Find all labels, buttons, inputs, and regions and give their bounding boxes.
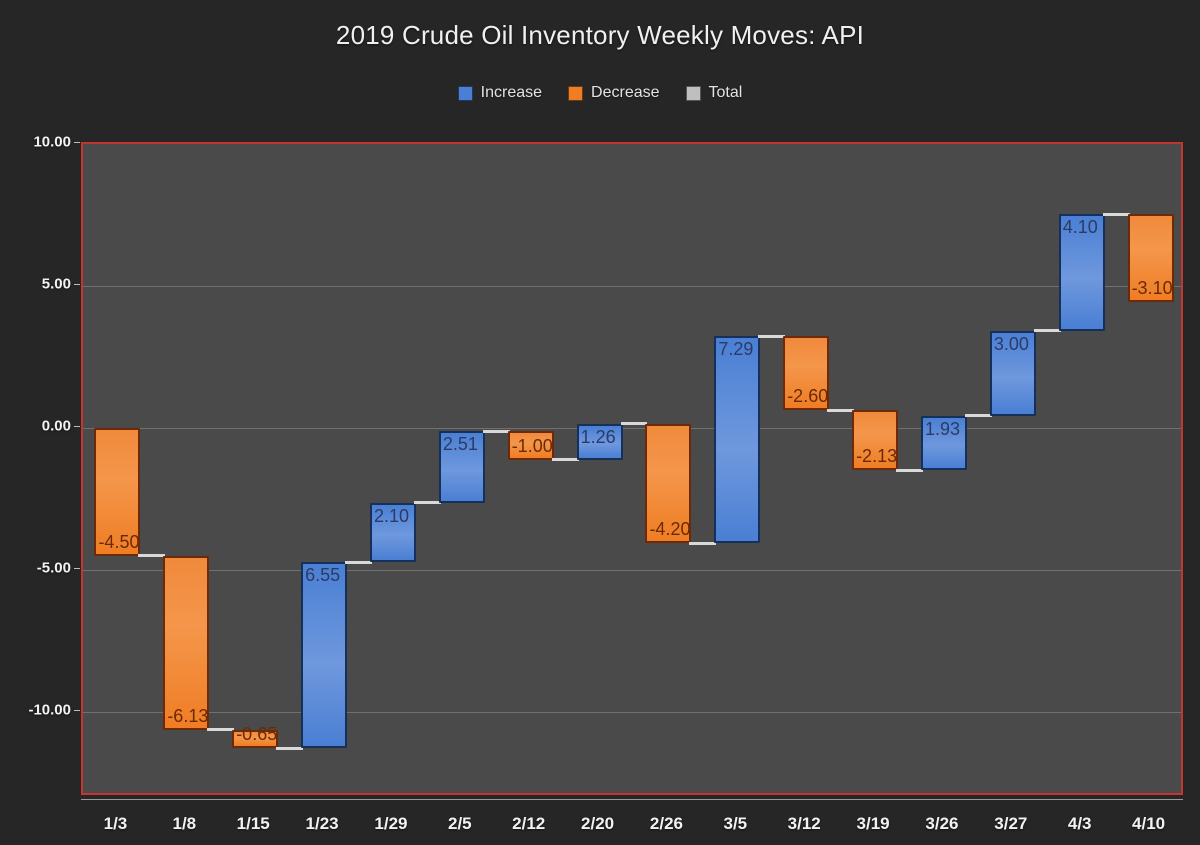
x-axis-tick-label: 1/29 xyxy=(357,814,426,834)
x-axis-line xyxy=(81,799,1183,800)
waterfall-connector xyxy=(483,430,510,433)
waterfall-connector xyxy=(1103,213,1130,216)
bar-value-label: -4.50 xyxy=(98,532,139,553)
chart-title: 2019 Crude Oil Inventory Weekly Moves: A… xyxy=(0,20,1200,51)
bar-value-label: 1.26 xyxy=(581,427,616,448)
gridline xyxy=(83,428,1181,429)
bar-2-12[interactable]: -1.00 xyxy=(508,431,554,459)
gridline xyxy=(83,570,1181,571)
y-axis-tick-label: -10.00 xyxy=(0,701,71,718)
bar-3-26[interactable]: 1.93 xyxy=(921,416,967,471)
bar-3-5[interactable]: 7.29 xyxy=(714,336,760,543)
bar-4-3[interactable]: 4.10 xyxy=(1059,214,1105,330)
bar-1-8[interactable]: -6.13 xyxy=(163,556,209,730)
x-axis-tick-label: 1/15 xyxy=(219,814,288,834)
waterfall-connector xyxy=(414,501,441,504)
y-axis-tick-label: 0.00 xyxy=(0,417,71,434)
chart-legend: IncreaseDecreaseTotal xyxy=(0,84,1200,102)
waterfall-connector xyxy=(138,554,165,557)
waterfall-connector xyxy=(758,335,785,338)
x-axis-tick-label: 3/12 xyxy=(770,814,839,834)
legend-item-increase[interactable]: Increase xyxy=(458,84,542,102)
bar-value-label: 3.00 xyxy=(994,334,1029,355)
legend-label: Decrease xyxy=(591,84,659,102)
bar-1-23[interactable]: 6.55 xyxy=(301,562,347,748)
bar-1-15[interactable]: -0.65 xyxy=(232,730,278,748)
waterfall-connector xyxy=(965,414,992,417)
y-axis-tick-label: 10.00 xyxy=(0,134,71,151)
bar-value-label: -2.60 xyxy=(787,386,828,407)
gridline xyxy=(83,712,1181,713)
bar-value-label: 1.93 xyxy=(925,419,960,440)
bar-value-label: 6.55 xyxy=(305,565,340,586)
legend-swatch-decrease-icon xyxy=(568,86,583,101)
bar-value-label: -2.13 xyxy=(856,446,897,467)
y-axis-tick-label: -5.00 xyxy=(0,559,71,576)
waterfall-connector xyxy=(1034,329,1061,332)
waterfall-connector xyxy=(621,422,648,425)
bar-1-29[interactable]: 2.10 xyxy=(370,503,416,563)
y-axis-tick-mark xyxy=(74,426,80,427)
x-axis-tick-label: 4/10 xyxy=(1114,814,1183,834)
x-axis-tick-label: 2/12 xyxy=(494,814,563,834)
waterfall-connector xyxy=(827,409,854,412)
plot-area: -4.50-6.13-0.656.552.102.51-1.001.26-4.2… xyxy=(81,142,1183,795)
waterfall-connector xyxy=(345,561,372,564)
bar-4-10[interactable]: -3.10 xyxy=(1128,214,1174,302)
y-axis-tick-mark xyxy=(74,142,80,143)
y-axis-tick-label: 5.00 xyxy=(0,275,71,292)
x-axis-labels: 1/31/81/151/231/292/52/122/202/263/53/12… xyxy=(81,806,1183,842)
y-axis-tick-mark xyxy=(74,568,80,569)
x-axis-tick-label: 3/5 xyxy=(701,814,770,834)
legend-swatch-total-icon xyxy=(686,86,701,101)
x-axis-tick-label: 3/19 xyxy=(839,814,908,834)
x-axis-tick-label: 2/20 xyxy=(563,814,632,834)
x-axis-tick-label: 3/27 xyxy=(976,814,1045,834)
x-axis-tick-label: 2/26 xyxy=(632,814,701,834)
legend-item-decrease[interactable]: Decrease xyxy=(568,84,659,102)
y-axis-tick-mark xyxy=(74,710,80,711)
x-axis-tick-label: 1/8 xyxy=(150,814,219,834)
bar-value-label: -6.13 xyxy=(167,706,208,727)
legend-label: Increase xyxy=(481,84,542,102)
legend-swatch-increase-icon xyxy=(458,86,473,101)
bar-3-12[interactable]: -2.60 xyxy=(783,336,829,410)
waterfall-connector xyxy=(207,728,234,731)
waterfall-connector xyxy=(276,747,303,750)
legend-item-total[interactable]: Total xyxy=(686,84,743,102)
bar-3-19[interactable]: -2.13 xyxy=(852,410,898,470)
bar-value-label: 7.29 xyxy=(718,339,753,360)
gridline xyxy=(83,286,1181,287)
bar-2-20[interactable]: 1.26 xyxy=(577,424,623,460)
x-axis-tick-label: 4/3 xyxy=(1045,814,1114,834)
bar-2-26[interactable]: -4.20 xyxy=(645,424,691,543)
bar-value-label: 2.51 xyxy=(443,434,478,455)
x-axis-tick-label: 3/26 xyxy=(908,814,977,834)
x-axis-tick-label: 2/5 xyxy=(425,814,494,834)
bar-value-label: 4.10 xyxy=(1063,217,1098,238)
waterfall-connector xyxy=(552,458,579,461)
bar-1-3[interactable]: -4.50 xyxy=(94,428,140,556)
bar-2-5[interactable]: 2.51 xyxy=(439,431,485,502)
bar-value-label: -0.65 xyxy=(236,724,277,745)
waterfall-connector xyxy=(689,542,716,545)
bar-value-label: -3.10 xyxy=(1132,278,1173,299)
x-axis-tick-label: 1/3 xyxy=(81,814,150,834)
waterfall-chart: 2019 Crude Oil Inventory Weekly Moves: A… xyxy=(0,0,1200,845)
x-axis-tick-label: 1/23 xyxy=(288,814,357,834)
legend-label: Total xyxy=(709,84,743,102)
bar-3-27[interactable]: 3.00 xyxy=(990,331,1036,416)
bar-value-label: 2.10 xyxy=(374,506,409,527)
plot-inner: -4.50-6.13-0.656.552.102.51-1.001.26-4.2… xyxy=(83,144,1181,793)
y-axis-tick-mark xyxy=(74,284,80,285)
bar-value-label: -1.00 xyxy=(512,436,553,457)
waterfall-connector-start xyxy=(83,426,94,429)
bar-value-label: -4.20 xyxy=(649,519,690,540)
waterfall-connector xyxy=(896,469,923,472)
